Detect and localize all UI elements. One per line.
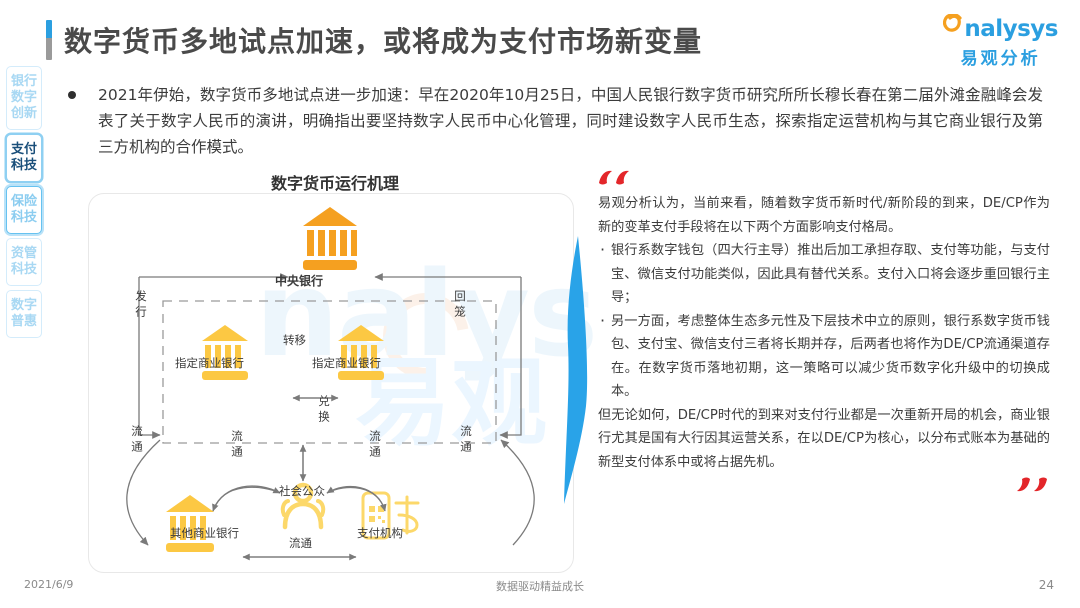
analysis-point: 银行系数字钱包（四大行主导）推出后加工承担存取、支付等功能，与支付宝、微信支付功… xyxy=(598,239,1050,310)
edge-label-circulate-left: 流通 xyxy=(129,425,145,456)
edge-label-exchange: 兑换 xyxy=(316,395,332,426)
footer-page-number: 24 xyxy=(1039,578,1054,592)
slide-root: nalys 易观 数字货币多地试点加速，或将成为支付市场新变量 nalysys … xyxy=(0,0,1080,608)
edge-label-circulate-right: 流通 xyxy=(458,425,474,456)
sidebar[interactable]: 银行数字创新 支付科技 保险科技 资管科技 数字普惠 xyxy=(6,66,42,338)
analysis-points-list: 银行系数字钱包（四大行主导）推出后加工承担存取、支付等功能，与支付宝、微信支付功… xyxy=(598,239,1050,404)
sidebar-item-label: 资管科技 xyxy=(7,246,41,278)
quote-open-icon xyxy=(598,170,1050,190)
edge-label-transfer: 转移 xyxy=(283,332,306,348)
sidebar-item-digital-inclusive-finance[interactable]: 数字普惠 xyxy=(6,290,42,338)
edge-label-circulate-mid-right: 流通 xyxy=(367,430,383,461)
edge-label-circulate-bottom: 流通 xyxy=(289,535,312,551)
sidebar-item-label: 银行数字创新 xyxy=(7,74,41,122)
edge-label-circulate-mid-left: 流通 xyxy=(229,430,245,461)
other-bank-icon xyxy=(166,495,214,552)
diagram-title: 数字货币运行机理 xyxy=(85,170,585,194)
sidebar-item-asset-management-tech[interactable]: 资管科技 xyxy=(6,238,42,286)
bullet-dot-icon xyxy=(68,91,76,99)
analysis-panel: 易观分析认为，当前来看，随着数字货币新时代/新阶段的到来，DE/CP作为新的变革… xyxy=(598,170,1050,496)
node-label-public: 社会公众 xyxy=(279,483,325,499)
designated-bank-left-icon xyxy=(202,325,248,380)
sidebar-item-label: 保险科技 xyxy=(7,194,41,226)
logo-wordmark: nalysys xyxy=(964,18,1058,41)
analysis-point: 另一方面，考虑整体生态多元性及下层技术中立的原则，银行系数字货币钱包、支付宝、微… xyxy=(598,310,1050,404)
node-label-other-bank: 其他商业银行 xyxy=(170,525,239,541)
edge-label-issue: 发行 xyxy=(133,290,149,321)
footer-slogan: 数据驱动精益成长 xyxy=(0,578,1080,594)
node-label-designated-bank-right: 指定商业银行 xyxy=(312,355,381,371)
node-label-designated-bank-left: 指定商业银行 xyxy=(175,355,244,371)
footer: 2021/6/9 数据驱动精益成长 24 xyxy=(0,578,1080,598)
sidebar-item-bank-digital-innovation[interactable]: 银行数字创新 xyxy=(6,66,42,130)
lead-paragraph: 2021年伊始，数字货币多地试点进一步加速：早在2020年10月25日，中国人民… xyxy=(98,82,1043,160)
page-title-row: 数字货币多地试点加速，或将成为支付市场新变量 xyxy=(46,16,702,64)
brand-logo: nalysys 易观分析 xyxy=(943,14,1058,69)
logo-swoosh-icon xyxy=(943,14,963,36)
currency-flow-diagram xyxy=(88,193,572,571)
node-label-payment-org: 支付机构 xyxy=(357,525,403,541)
logo-chinese: 易观分析 xyxy=(943,44,1058,69)
central-bank-icon xyxy=(303,207,357,270)
edge-label-withdraw: 回笼 xyxy=(452,290,468,321)
lead-bullet: 2021年伊始，数字货币多地试点进一步加速：早在2020年10月25日，中国人民… xyxy=(68,82,1043,160)
analysis-conclusion: 但无论如何，DE/CP时代的到来对支付行业都是一次重新开局的机会，商业银行尤其是… xyxy=(598,404,1050,475)
page-title: 数字货币多地试点加速，或将成为支付市场新变量 xyxy=(64,20,702,60)
analysis-intro: 易观分析认为，当前来看，随着数字货币新时代/新阶段的到来，DE/CP作为新的变革… xyxy=(598,192,1050,239)
sidebar-item-insurance-tech[interactable]: 保险科技 xyxy=(6,186,42,234)
sidebar-item-label: 支付科技 xyxy=(7,142,41,174)
node-label-central-bank: 中央银行 xyxy=(275,272,323,289)
designated-bank-right-icon xyxy=(338,325,384,380)
sidebar-item-label: 数字普惠 xyxy=(7,298,41,330)
title-accent-bar xyxy=(46,20,52,60)
quote-close-icon xyxy=(598,476,1050,496)
sidebar-item-payment-tech[interactable]: 支付科技 xyxy=(6,134,42,182)
